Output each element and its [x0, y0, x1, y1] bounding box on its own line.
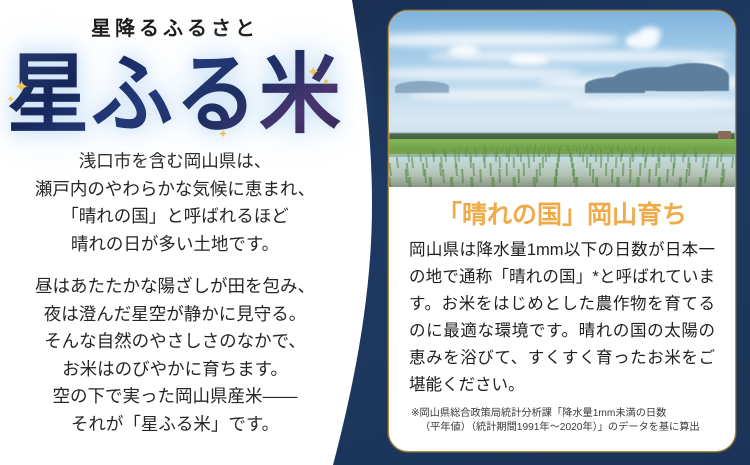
promo-banner: 星降るふるさと 星ふる米 ✦ ✦ ✦ ✦ ✦ 浅口市を含む岡山県は、瀬戸内のやわ… — [0, 0, 750, 465]
card-body: 「晴れの国」岡山育ち 岡山県は降水量1mm以下の日数が日本一の地で通称「晴れの国… — [389, 187, 735, 451]
kicker-heading: 星降るふるさと — [0, 0, 350, 39]
left-content: 星降るふるさと 星ふる米 ✦ ✦ ✦ ✦ ✦ 浅口市を含む岡山県は、瀬戸内のやわ… — [0, 0, 350, 465]
left-body-copy: 浅口市を含む岡山県は、瀬戸内のやわらかな気候に恵まれ、「晴れの国」と呼ばれるほど… — [16, 148, 334, 438]
brand-logo: 星ふる米 ✦ ✦ ✦ ✦ ✦ — [0, 43, 350, 148]
footnote-line-1: ※岡山県総合政策局統計分析課「降水量1mm未満の日数 — [411, 407, 715, 421]
card-heading: 「晴れの国」岡山育ち — [409, 199, 715, 231]
mountain — [585, 77, 645, 93]
footnote-line-2: （平年値）（統計期間1991年〜2020年）」のデータを基に算出 — [411, 421, 715, 435]
mountain — [657, 63, 729, 91]
footnote: ※岡山県総合政策局統計分析課「降水量1mm未満の日数 （平年値）（統計期間199… — [409, 407, 715, 435]
rice-paddy-photo — [389, 11, 735, 187]
mountain — [395, 81, 449, 93]
paragraph: 昼はあたたかな陽ざしが田を包み、夜は澄んだ星空が静かに見守る。そんな自然のやさし… — [16, 273, 334, 438]
brand-logo-text: 星ふる米 — [0, 42, 350, 148]
rice-seedling-rows — [389, 152, 735, 187]
info-card: 「晴れの国」岡山育ち 岡山県は降水量1mm以下の日数が日本一の地で通称「晴れの国… — [388, 10, 736, 452]
card-paragraph: 岡山県は降水量1mm以下の日数が日本一の地で通称「晴れの国」*と呼ばれています。… — [409, 237, 715, 399]
paragraph: 浅口市を含む岡山県は、瀬戸内のやわらかな気候に恵まれ、「晴れの国」と呼ばれるほど… — [16, 148, 334, 258]
